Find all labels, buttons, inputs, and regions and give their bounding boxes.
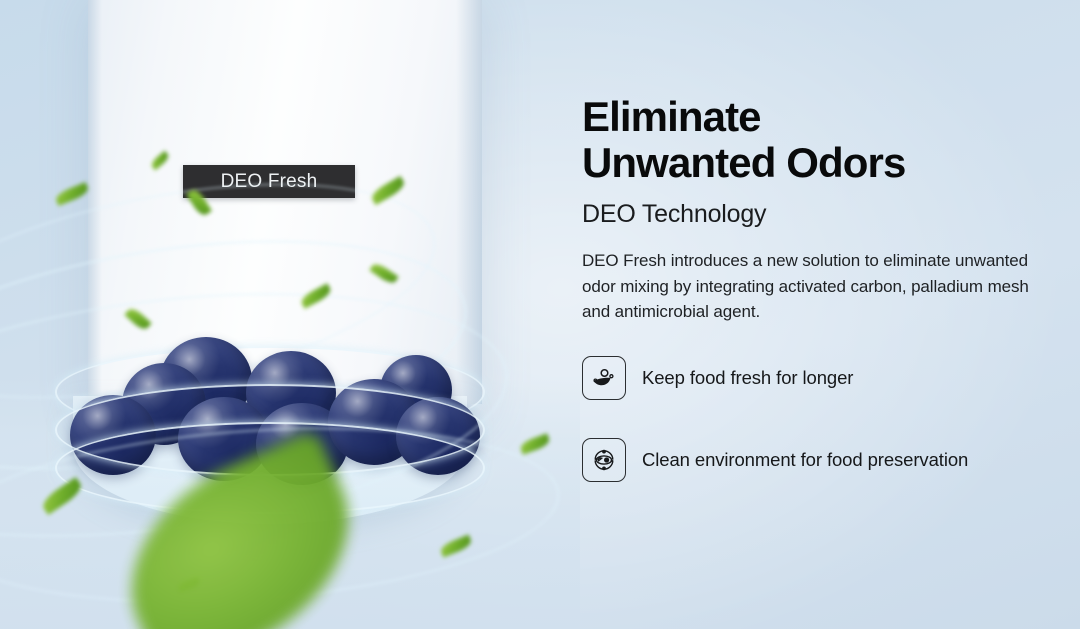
subheading: DEO Technology (582, 200, 766, 229)
leaf-bubbles-icon (582, 356, 626, 400)
food-circulation-icon (582, 438, 626, 482)
product-scene: DEO Fresh (0, 0, 580, 629)
feature-label: Keep food fresh for longer (642, 367, 853, 389)
body-paragraph: DEO Fresh introduces a new solution to e… (582, 248, 1060, 325)
feature-list: Keep food fresh for longer (582, 356, 1052, 520)
leaf-icon (54, 182, 90, 206)
product-feature-banner: DEO Fresh (0, 0, 1080, 629)
feature-label: Clean environment for food preservation (642, 449, 968, 471)
feature-item-clean-environment: Clean environment for food preservation (582, 438, 1052, 482)
page-title: Eliminate Unwanted Odors (582, 94, 1052, 186)
headline-line-2: Unwanted Odors (582, 140, 1052, 186)
content-column: Eliminate Unwanted Odors DEO Technology … (582, 0, 1080, 629)
feature-item-keep-food-fresh: Keep food fresh for longer (582, 356, 1052, 400)
headline-line-1: Eliminate (582, 93, 761, 140)
